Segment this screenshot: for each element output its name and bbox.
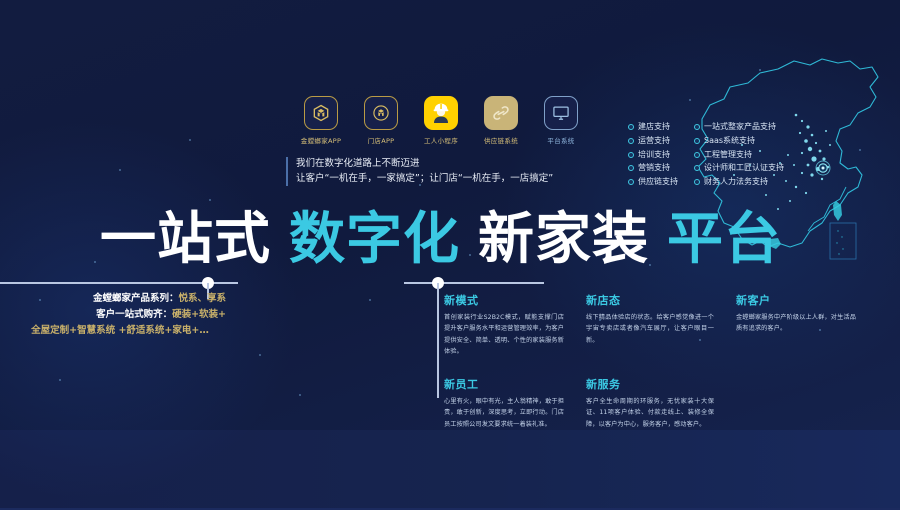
feature-body: 金螳螂家服务中产阶级以上人群，对生活品质有追求的客户。	[736, 312, 856, 335]
feature-body: 首创家装行业S2B2C模式，赋能支撑门店提升客户服务水平和运营管理效率，为客户提…	[444, 312, 564, 358]
headline-part-3: 新家装	[478, 212, 649, 268]
app-item-worker[interactable]: 工人小程序	[416, 96, 466, 145]
feature-columns: 新模式 首创家装行业S2B2C模式，赋能支撑门店提升客户服务水平和运营管理效率，…	[444, 292, 874, 430]
product-series-value: 悦系、享系	[178, 293, 226, 304]
one-stop-label: 客户一站式购齐：	[96, 309, 172, 320]
app-label: 平台系统	[547, 135, 574, 145]
app-label: 供应链系统	[484, 135, 518, 145]
app-label: 工人小程序	[424, 135, 458, 145]
support-column-left: 建店支持 运营支持 培训支持 营销支持 供应链支持	[628, 120, 678, 189]
support-column-right: 一站式整家产品支持 Saas系统支持 工程管理支持 设计师和工匠认证支持 财务人…	[694, 120, 784, 189]
feature-body: 线下精品体验店的状态。给客户感觉像进一个宇宙专卖店或者像汽车展厅，让客户眼目一新…	[586, 312, 714, 346]
one-stop-line-2: 全屋定制+智慧系统 +舒适系统+家电+…	[14, 323, 226, 339]
support-item: 设计师和工匠认证支持	[694, 161, 784, 175]
support-lists: 建店支持 运营支持 培训支持 营销支持 供应链支持 一站式整家产品支持 Saas…	[628, 120, 808, 189]
app-label: 金螳螂家APP	[301, 135, 341, 145]
feature-title: 新店态	[586, 292, 714, 308]
page-title: 一站式 数字化 新家装 平台	[100, 208, 670, 272]
app-item-platform[interactable]: 平台系统	[536, 96, 586, 145]
tagline-block: 我们在数字化道路上不断迈进 让客户“一机在手，一家搞定”；让门店“一机在手，一店…	[286, 157, 616, 186]
rail-right	[404, 282, 544, 284]
feature-title: 新模式	[444, 292, 564, 308]
feature-spacer	[736, 376, 856, 430]
feature-card-new-model: 新模式 首创家装行业S2B2C模式，赋能支撑门店提升客户服务水平和运营管理效率，…	[444, 292, 564, 358]
support-item: 一站式整家产品支持	[694, 120, 784, 134]
app-label: 门店APP	[368, 135, 395, 145]
feature-card-new-service: 新服务 客户全生命周期的环服务，无忧家装十大保证、11项客户体验、付款走线上、装…	[586, 376, 714, 430]
headline-part-2: 数字化	[289, 212, 460, 268]
support-item: 营销支持	[628, 161, 678, 175]
product-series-line: 金螳螂家产品系列：悦系、享系	[14, 291, 226, 307]
feature-card-new-employee: 新员工 心里有火，眼中有光，主人翁精神，敢于担责，敢于创新，深度思考，立即行动。…	[444, 376, 564, 430]
support-item: 工程管理支持	[694, 148, 784, 162]
feature-body: 客户全生命周期的环服务，无忧家装十大保证、11项客户体验、付款走线上、装修全保障…	[586, 396, 714, 430]
monitor-icon	[544, 96, 578, 130]
support-item: Saas系统支持	[694, 134, 784, 148]
feature-title: 新员工	[444, 376, 564, 392]
house-logo-icon	[304, 96, 338, 130]
product-series-block: 金螳螂家产品系列：悦系、享系 客户一站式购齐：硬装+软装+ 全屋定制+智慧系统 …	[14, 291, 226, 339]
tagline-line-1: 我们在数字化道路上不断迈进	[296, 157, 616, 172]
app-icon-row: 金螳螂家APP 门店APP	[296, 96, 586, 154]
app-item-store[interactable]: 门店APP	[356, 96, 406, 145]
background-bottom-band	[0, 430, 900, 510]
feature-body: 心里有火，眼中有光，主人翁精神，敢于担责，敢于创新，深度思考，立即行动。门店员工…	[444, 396, 564, 430]
support-item: 供应链支持	[628, 175, 678, 189]
feature-card-new-customer: 新客户 金螳螂家服务中产阶级以上人群，对生活品质有追求的客户。	[736, 292, 856, 358]
one-stop-line: 客户一站式购齐：硬装+软装+	[14, 307, 226, 323]
feature-row-1: 新模式 首创家装行业S2B2C模式，赋能支撑门店提升客户服务水平和运营管理效率，…	[444, 292, 874, 358]
one-stop-value: 硬装+软装+	[172, 309, 226, 320]
feature-title: 新客户	[736, 292, 856, 308]
app-item-jintanglang[interactable]: 金螳螂家APP	[296, 96, 346, 145]
feature-row-2: 新员工 心里有火，眼中有光，主人翁精神，敢于担责，敢于创新，深度思考，立即行动。…	[444, 376, 874, 430]
product-series-label: 金螳螂家产品系列：	[93, 293, 179, 304]
app-item-supplychain[interactable]: 供应链系统	[476, 96, 526, 145]
rail-stem-right	[437, 283, 439, 398]
house-logo-circle-icon	[364, 96, 398, 130]
support-item: 建店支持	[628, 120, 678, 134]
chain-link-icon	[484, 96, 518, 130]
worker-hardhat-icon	[424, 96, 458, 130]
headline-part-4: 平台	[667, 212, 781, 268]
support-item: 财务人力法务支持	[694, 175, 784, 189]
feature-title: 新服务	[586, 376, 714, 392]
headline-part-1: 一站式	[100, 212, 271, 268]
poster-canvas: 金螳螂家APP 门店APP	[0, 0, 900, 510]
tagline-line-2: 让客户“一机在手，一家搞定”；让门店“一机在手，一店搞定”	[296, 172, 616, 187]
support-item: 培训支持	[628, 148, 678, 162]
feature-card-new-store: 新店态 线下精品体验店的状态。给客户感觉像进一个宇宙专卖店或者像汽车展厅，让客户…	[586, 292, 714, 358]
support-item: 运营支持	[628, 134, 678, 148]
